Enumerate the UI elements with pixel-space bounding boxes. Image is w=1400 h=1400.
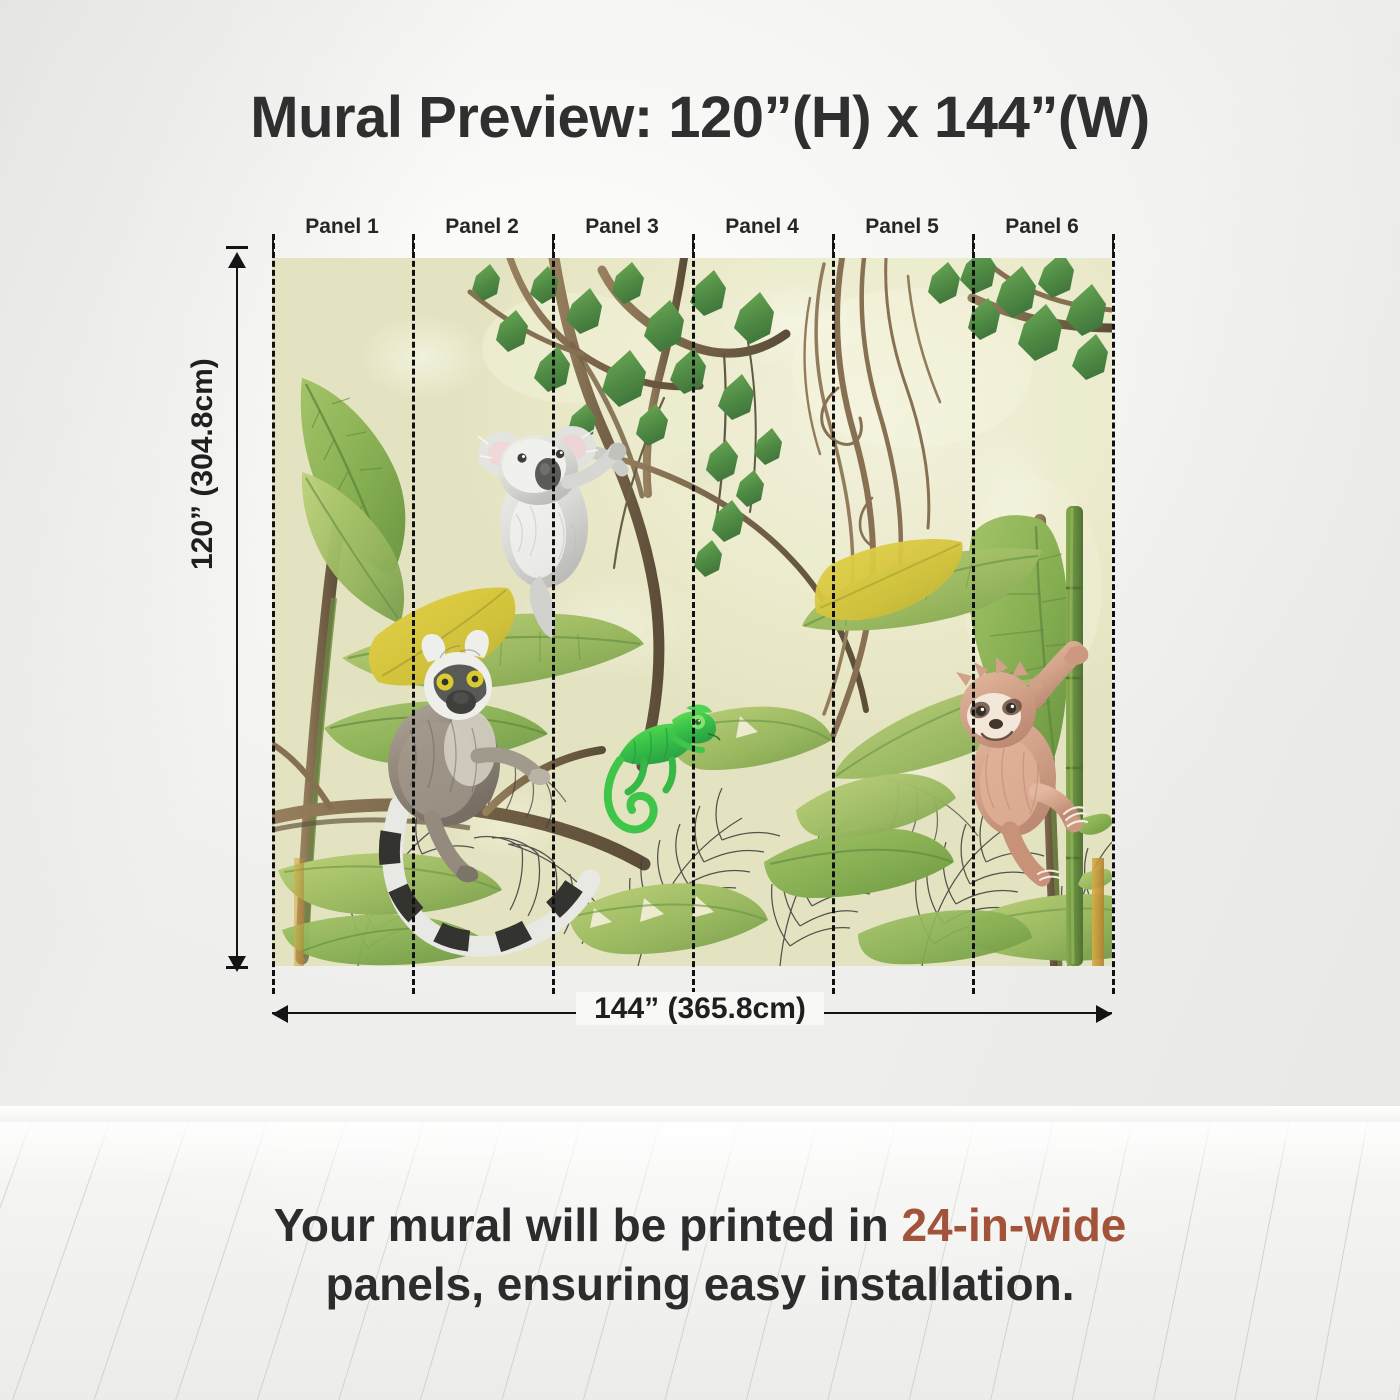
width-dimension-text: 144” (365.8cm)	[576, 992, 824, 1025]
panel-tick-3	[692, 234, 694, 256]
mural-artwork	[272, 258, 1112, 966]
caption-highlight: 24-in-wide	[901, 1199, 1126, 1251]
panel-tick-4	[832, 234, 834, 256]
height-cap-top	[226, 246, 248, 249]
height-arrow-up	[228, 252, 246, 268]
caption-line-1-text: Your mural will be printed in	[274, 1199, 902, 1251]
caption: Your mural will be printed in 24-in-wide…	[0, 1196, 1400, 1314]
baseboard	[0, 1106, 1400, 1122]
panel-tick-0	[272, 234, 274, 256]
page-title: Mural Preview: 120”(H) x 144”(W)	[0, 84, 1400, 151]
mural-preview[interactable]	[272, 258, 1112, 966]
width-dimension-label: 144” (365.8cm)	[0, 992, 1400, 1026]
caption-line-2: panels, ensuring easy installation.	[0, 1255, 1400, 1314]
panel-tick-row	[272, 234, 1112, 258]
height-arrow-down	[228, 956, 246, 972]
height-cap-bottom	[226, 966, 248, 969]
panel-tick-1	[412, 234, 414, 256]
height-dimension-label: 120” (304.8cm)	[186, 270, 220, 570]
panel-tick-5	[972, 234, 974, 256]
caption-line-1: Your mural will be printed in 24-in-wide	[0, 1196, 1400, 1255]
height-dimension-line	[236, 258, 238, 966]
jungle-illustration	[272, 258, 1112, 966]
panel-tick-6	[1112, 234, 1114, 256]
panel-tick-2	[552, 234, 554, 256]
